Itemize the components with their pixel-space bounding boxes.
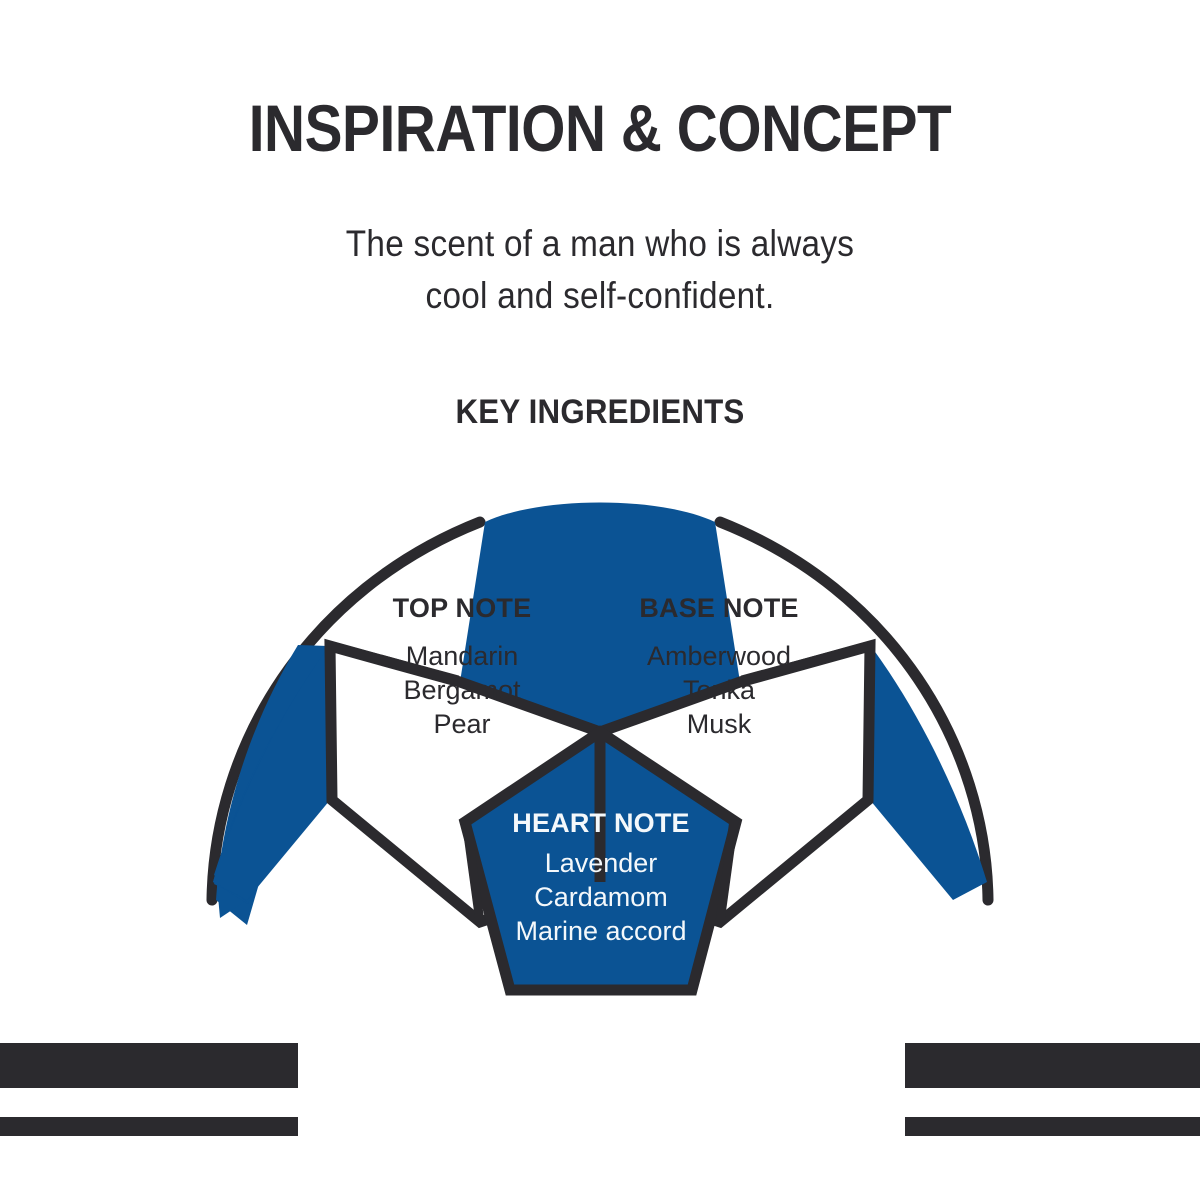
top-note-item-3: Pear [433,709,490,739]
base-note-heading: BASE NOTE [639,593,798,623]
footer-bar-right-thin [905,1117,1200,1136]
heart-note-item-2: Cardamom [534,882,668,912]
footer-bar-left-thick [0,1043,298,1088]
heart-note-item-1: Lavender [545,848,658,878]
top-note-heading: TOP NOTE [393,593,532,623]
heart-note-item-3: Marine accord [515,916,686,946]
base-note-item-3: Musk [687,709,752,739]
footer-bar-right-thick [905,1043,1200,1088]
base-note-item-2: Tonka [683,675,756,705]
heart-note-heading: HEART NOTE [512,808,690,838]
footer-bar-left-thin [0,1117,298,1136]
fragrance-notes-ball-diagram: TOP NOTE Mandarin Bergamot Pear BASE NOT… [180,470,1020,1010]
page-title: INSPIRATION & CONCEPT [84,92,1116,164]
subtitle-line-1: The scent of a man who is always [195,218,1005,270]
slide-canvas: INSPIRATION & CONCEPT The scent of a man… [0,0,1200,1200]
base-note-item-1: Amberwood [647,641,791,671]
top-note-item-2: Bergamot [403,675,521,705]
subtitle-block: The scent of a man who is always cool an… [195,218,1005,322]
top-note-item-1: Mandarin [406,641,519,671]
section-heading-key-ingredients: KEY INGREDIENTS [48,392,1152,432]
subtitle-line-2: cool and self-confident. [195,270,1005,322]
